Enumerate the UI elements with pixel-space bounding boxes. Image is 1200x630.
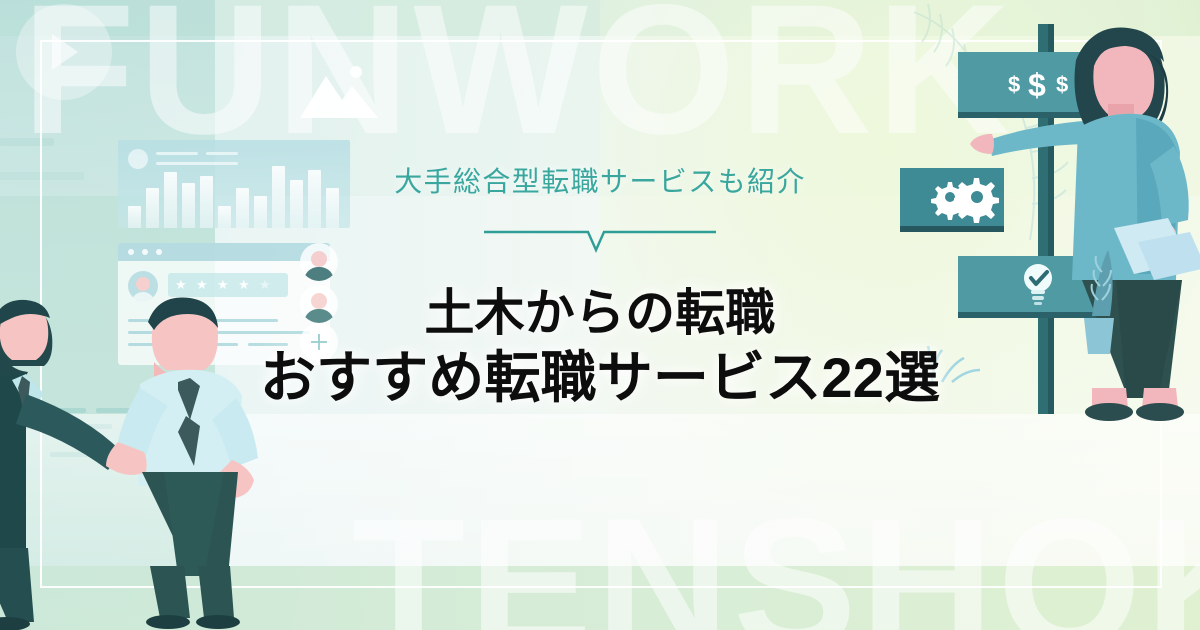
bar-6 bbox=[218, 206, 231, 228]
panel-header-line-1 bbox=[156, 152, 198, 155]
window-dot-1 bbox=[128, 249, 134, 255]
avatar-body bbox=[304, 267, 334, 281]
bar-9 bbox=[272, 166, 285, 228]
title-divider bbox=[480, 224, 720, 260]
hero-subtitle: 大手総合型転職サービスも紹介 bbox=[300, 165, 900, 199]
avatar-head bbox=[311, 251, 327, 267]
svg-text:$: $ bbox=[1028, 67, 1046, 103]
panel-header-line-2 bbox=[206, 152, 238, 155]
handshake-illustration bbox=[0, 276, 278, 630]
page-title-line-1: 土木からの転職 bbox=[245, 282, 955, 344]
bar-8 bbox=[254, 196, 267, 228]
page-title-line-2: おすすめ転職サービス22選 bbox=[245, 344, 955, 412]
bar-1 bbox=[128, 206, 141, 228]
sign-gears bbox=[900, 168, 1004, 232]
review-card-titlebar bbox=[118, 243, 330, 261]
bar-2 bbox=[146, 188, 159, 228]
svg-text:$: $ bbox=[1008, 72, 1020, 97]
window-dot-2 bbox=[142, 249, 148, 255]
hero-banner: FUNWORK TENSHOKU ★ ★ ★ ★ ★ bbox=[0, 0, 1200, 630]
bar-5 bbox=[200, 176, 213, 228]
page-title: 土木からの転職 おすすめ転職サービス22選 bbox=[245, 282, 955, 412]
avatar-woman bbox=[300, 243, 338, 281]
bar-3 bbox=[164, 172, 177, 228]
svg-text:$: $ bbox=[1056, 72, 1068, 97]
window-dot-3 bbox=[156, 249, 162, 255]
bar-4 bbox=[182, 183, 195, 228]
bar-7 bbox=[236, 188, 249, 228]
